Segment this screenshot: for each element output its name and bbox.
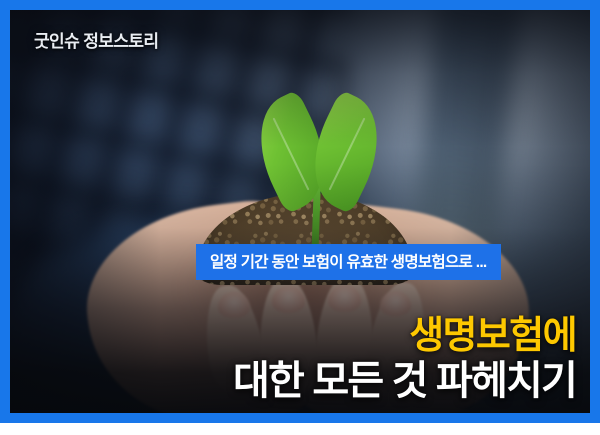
headline-line-2: 대한 모든 것 파헤치기 bbox=[233, 361, 576, 401]
caption-badge: 일정 기간 동안 보험이 유효한 생명보험으로 ... bbox=[196, 244, 501, 280]
headline-block: 생명보험에 대한 모든 것 파헤치기 bbox=[233, 317, 576, 401]
fingernail bbox=[218, 292, 250, 318]
footer-strip bbox=[0, 423, 600, 435]
headline-line-1: 생명보험에 bbox=[233, 317, 576, 355]
fingernail bbox=[380, 291, 411, 316]
photo-stage: 굿인슈 정보스토리 일정 기간 동안 보험이 유효한 생명보험으로 ... 생명… bbox=[10, 10, 590, 413]
fingernail bbox=[272, 286, 305, 313]
brand-logo: 굿인슈 정보스토리 bbox=[34, 27, 158, 52]
thumbnail-card: 굿인슈 정보스토리 일정 기간 동안 보험이 유효한 생명보험으로 ... 생명… bbox=[0, 0, 600, 423]
fingernail bbox=[328, 285, 361, 312]
